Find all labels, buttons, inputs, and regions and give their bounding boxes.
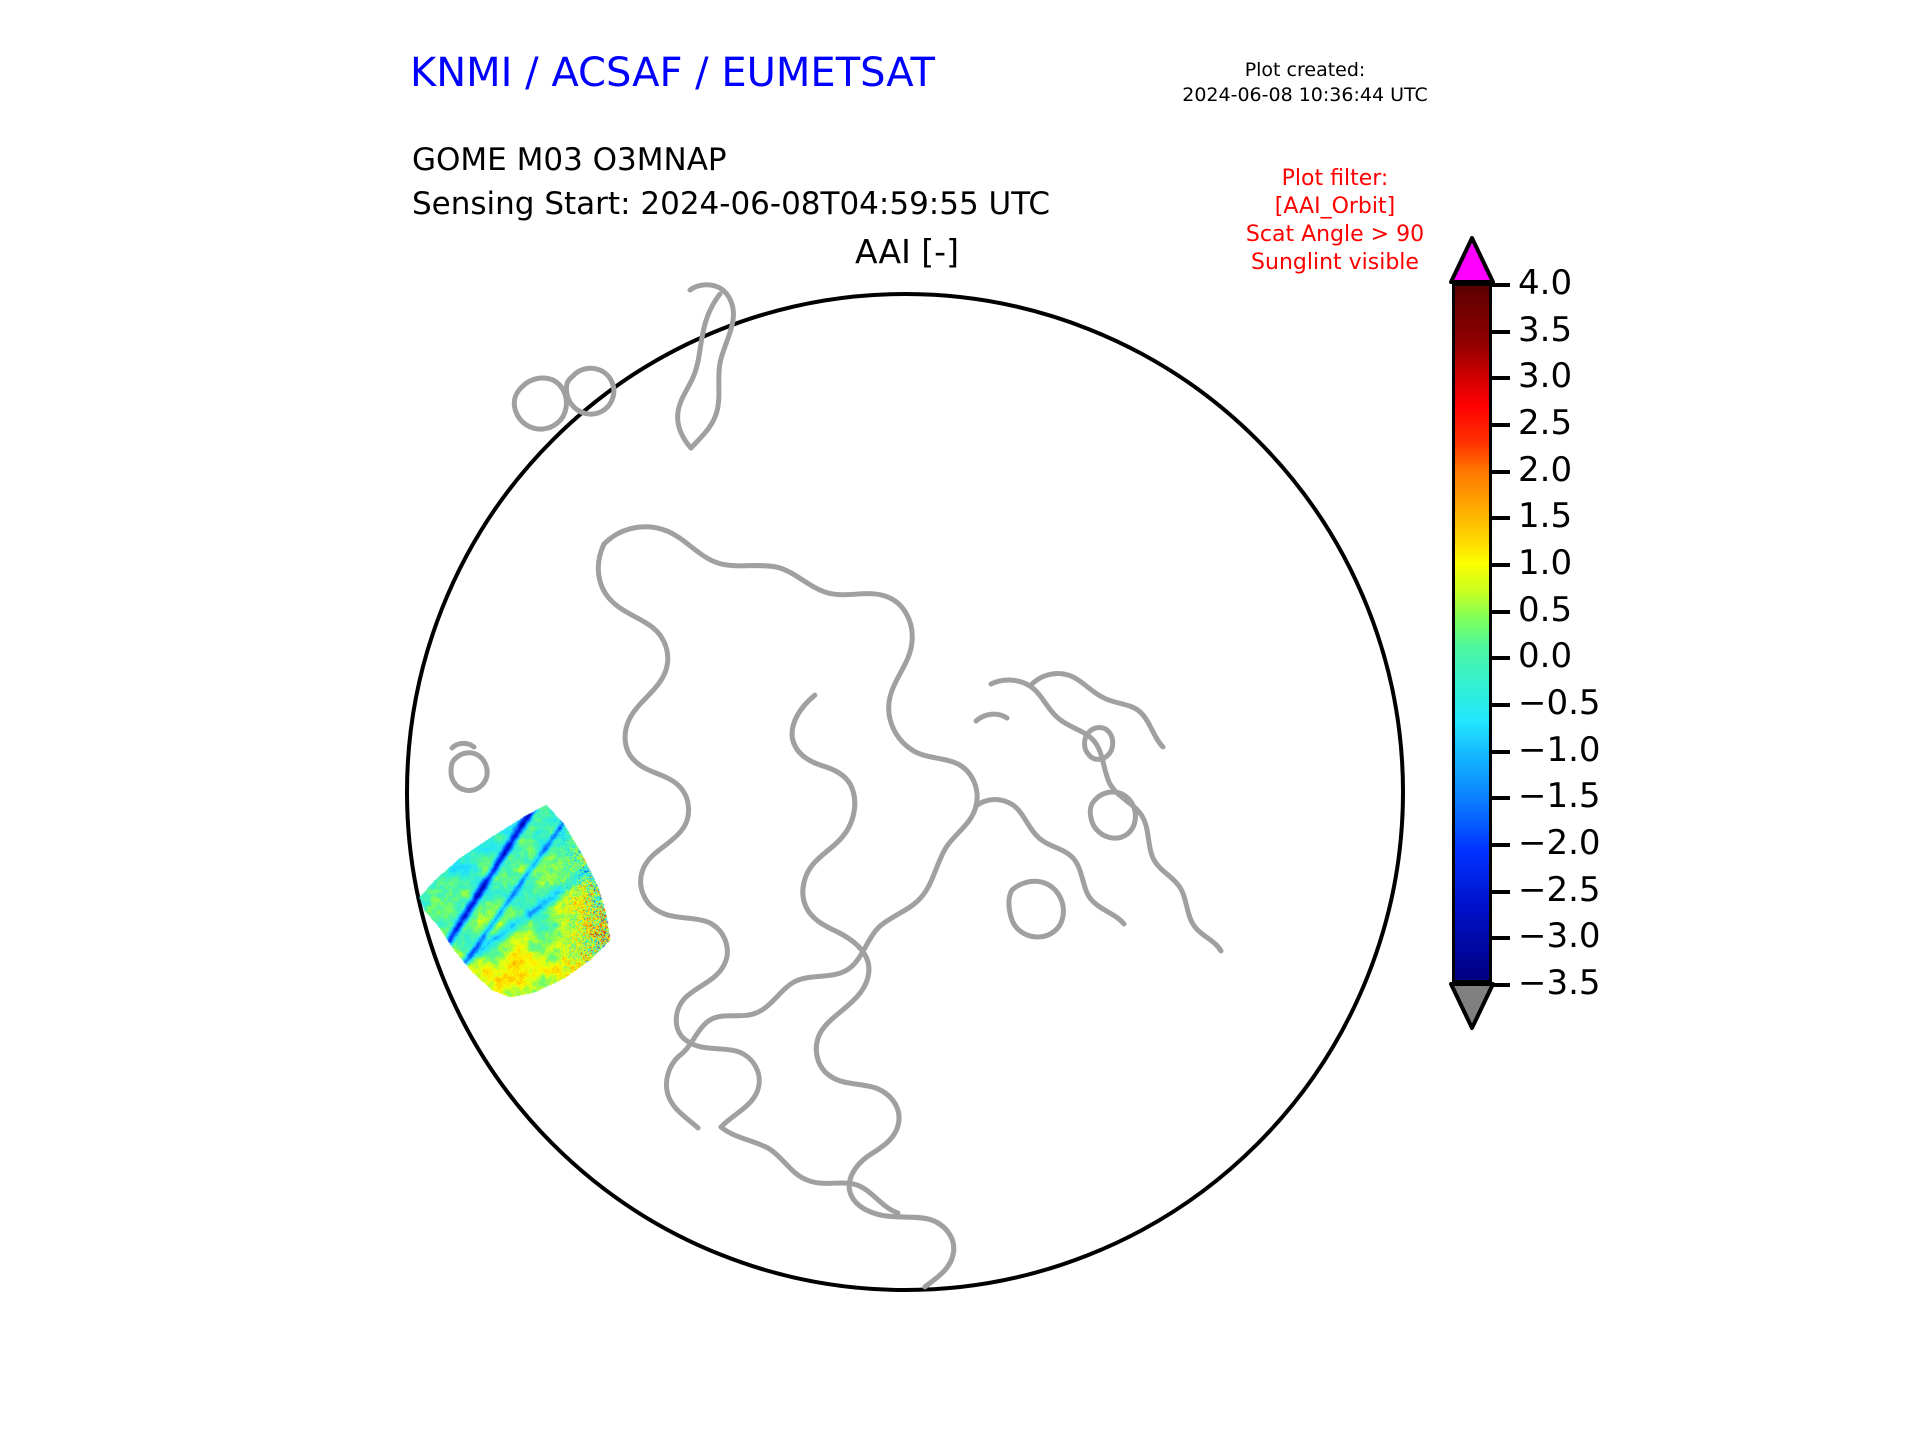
colorbar-tick-label: −0.5 <box>1518 683 1601 723</box>
colorbar-gradient-bar <box>1452 283 1492 983</box>
colorbar-over-arrow <box>1449 236 1495 284</box>
colorbar-tick <box>1492 843 1510 847</box>
colorbar-tick <box>1492 983 1510 987</box>
colorbar-tick-label: −3.0 <box>1518 916 1601 956</box>
coastline-island-c-edge <box>452 743 474 748</box>
plot-created-label: Plot created: <box>1155 58 1455 83</box>
colorbar-tick-label: 1.0 <box>1518 543 1572 583</box>
colorbar-tick <box>1492 890 1510 894</box>
colorbar-gradient-fill <box>1455 286 1489 980</box>
colorbar-tick-label: −2.5 <box>1518 870 1601 910</box>
colorbar-tick-label: 2.5 <box>1518 403 1572 443</box>
colorbar-tick <box>1492 703 1510 707</box>
coastline-island-falkland <box>1090 792 1135 838</box>
coastline-antarctica-west <box>598 544 759 1127</box>
map-panel[interactable] <box>390 280 1420 1310</box>
coastline-antarctica-north <box>604 527 912 750</box>
colorbar-tick-label: −3.5 <box>1518 963 1601 1003</box>
product-sensing-start-line: Sensing Start: 2024-06-08T04:59:55 UTC <box>412 182 1050 226</box>
coastline-antarctica-southwest <box>721 1127 898 1213</box>
colorbar-tick <box>1492 376 1510 380</box>
colorbar-tick <box>1492 656 1510 660</box>
colorbar-tick-label: 4.0 <box>1518 263 1572 303</box>
colorbar-tick <box>1492 516 1510 520</box>
coastline-samerica-d <box>976 714 1007 721</box>
colorbar-tick <box>1492 470 1510 474</box>
coastline-samerica-b <box>1154 860 1221 951</box>
coastline-antarctica-east <box>679 750 977 1056</box>
colorbar-tick <box>1492 610 1510 614</box>
plot-filter-label: Plot filter: <box>1185 165 1485 193</box>
colorbar-tick <box>1492 283 1510 287</box>
colorbar-tick <box>1492 796 1510 800</box>
variable-title: AAI [-] <box>855 232 959 271</box>
product-info-block: GOME M03 O3MNAP Sensing Start: 2024-06-0… <box>412 138 1050 226</box>
colorbar-tick-label: −1.0 <box>1518 730 1601 770</box>
product-instrument-line: GOME M03 O3MNAP <box>412 138 1050 182</box>
coastline-island-c <box>451 753 487 791</box>
colorbar-tick-label: −2.0 <box>1518 823 1601 863</box>
colorbar-tick <box>1492 750 1510 754</box>
colorbar-tick <box>1492 563 1510 567</box>
colorbar-tick-label: −1.5 <box>1518 776 1601 816</box>
coastline-island-b <box>566 368 613 414</box>
coastlines-detail-layer <box>390 280 1420 1310</box>
organisation-title: KNMI / ACSAF / EUMETSAT <box>410 50 935 96</box>
colorbar-tick <box>1492 330 1510 334</box>
colorbar-tick-label: 0.5 <box>1518 590 1572 630</box>
colorbar-tick-label: 3.5 <box>1518 310 1572 350</box>
coastline-island-d <box>1009 881 1064 937</box>
coastline-peninsula-north <box>976 800 1124 925</box>
colorbar-tick <box>1492 423 1510 427</box>
coastline-island-a <box>514 378 566 429</box>
colorbar-tick-label: 2.0 <box>1518 450 1572 490</box>
colorbar-tick-label: 1.5 <box>1518 496 1572 536</box>
colorbar-under-arrow <box>1449 982 1495 1030</box>
coastline-antarctica-peninsula-base <box>666 1056 698 1128</box>
plot-created-block: Plot created: 2024-06-08 10:36:44 UTC <box>1155 58 1455 108</box>
colorbar-panel[interactable]: 4.03.53.02.52.01.51.00.50.0−0.5−1.0−1.5−… <box>1440 228 1860 1058</box>
colorbar-tick-label: 3.0 <box>1518 356 1572 396</box>
plot-created-timestamp: 2024-06-08 10:36:44 UTC <box>1155 83 1455 108</box>
colorbar-tick <box>1492 936 1510 940</box>
plot-filter-dataset: [AAI_Orbit] <box>1185 193 1485 221</box>
colorbar-tick-label: 0.0 <box>1518 636 1572 676</box>
